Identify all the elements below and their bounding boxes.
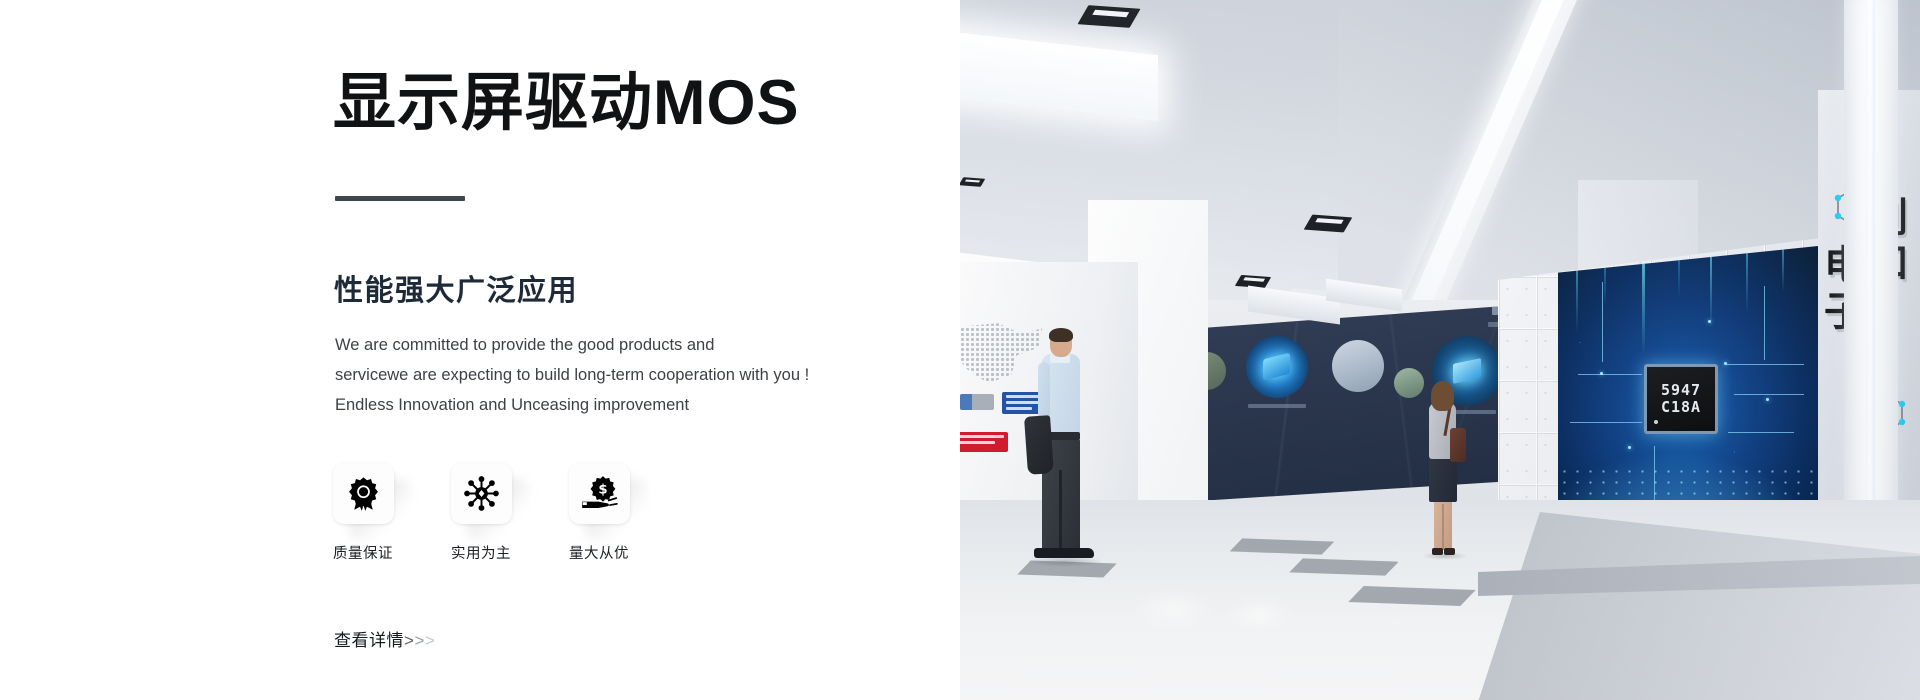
person-woman <box>1416 384 1468 562</box>
feature-label: 实用为主 <box>451 542 511 563</box>
exhibit-medallion <box>1332 340 1384 392</box>
feature-item-practical[interactable]: 实用为主 <box>451 463 511 563</box>
recessed-spotlight-icon <box>959 177 986 187</box>
floor-reflection <box>1130 588 1216 632</box>
page-title: 显示屏驱动MOS <box>333 68 800 139</box>
network-hub-icon <box>451 463 512 524</box>
feature-item-bulk-discount[interactable]: $ 量大从优 <box>569 463 629 563</box>
exhibit-caption-bar <box>1248 404 1306 408</box>
chip-label-line-2: C18A <box>1661 399 1701 416</box>
chip-pin-dot <box>1654 420 1658 424</box>
feature-label: 量大从优 <box>569 542 629 563</box>
view-details-link[interactable]: 查看详情>>> <box>334 626 435 651</box>
svg-text:$: $ <box>598 483 607 498</box>
recessed-spotlight-icon <box>1304 215 1353 233</box>
chip-label-line-1: 5947 <box>1661 382 1701 399</box>
left-text-panel: 显示屏驱动MOS 性能强大广泛应用 We are committed to pr… <box>0 0 960 700</box>
cta-label: 查看详情 <box>334 631 404 650</box>
hero-banner: 显示屏驱动MOS 性能强大广泛应用 We are committed to pr… <box>0 0 1920 700</box>
description-paragraph: We are committed to provide the good pro… <box>335 330 809 420</box>
description-line-2: servicewe are expecting to build long-te… <box>335 360 809 390</box>
title-divider <box>335 196 465 201</box>
person-man <box>1020 330 1100 570</box>
wall-logo-plaque <box>960 394 994 410</box>
exhibit-medallion-chip <box>1246 336 1308 398</box>
recessed-spotlight-icon <box>1078 5 1141 28</box>
description-line-3: Endless Innovation and Unceasing improve… <box>335 390 809 420</box>
cta-arrow-2: > <box>414 631 424 650</box>
led-video-wall: 5947 C18A <box>1558 246 1818 542</box>
description-line-1: We are committed to provide the good pro… <box>335 330 809 360</box>
feature-item-quality[interactable]: 质量保证 <box>333 463 393 563</box>
award-ribbon-icon <box>333 463 394 524</box>
subtitle: 性能强大广泛应用 <box>334 267 578 309</box>
cta-arrow-3: > <box>425 631 435 650</box>
hand-money-icon: $ <box>569 463 630 524</box>
showroom-interior-photo: 5947 C18A 创和 电子 <box>958 0 1920 700</box>
cta-arrow-1: > <box>404 631 414 650</box>
chip-graphic: 5947 C18A <box>1644 364 1718 434</box>
floor-reflection <box>1222 596 1296 634</box>
feature-list: 质量保证 <box>333 463 629 563</box>
feature-label: 质量保证 <box>333 542 393 563</box>
wall-info-plaque-red <box>958 432 1008 452</box>
